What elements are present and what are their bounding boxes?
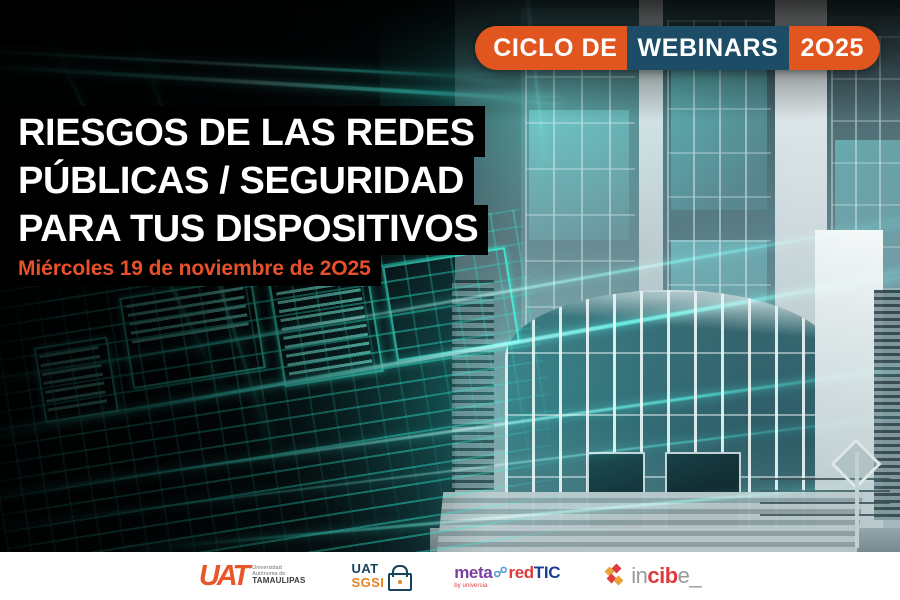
diamond-shape	[614, 576, 624, 586]
metaredtic-wordmark: meta ☍ red TIC by universia	[454, 564, 560, 589]
event-date: Miércoles 19 de noviembre de 2O25	[8, 255, 381, 286]
sponsor-logo-bar: UAT Universidad Autónoma de TAMAULIPAS U…	[0, 552, 900, 600]
uat-wordmark: UAT	[199, 562, 247, 591]
badge-year-label: 2O25	[798, 26, 864, 70]
incibe-e: e_	[678, 563, 701, 588]
metaredtic-main: meta ☍ red TIC	[454, 564, 560, 581]
logo-uat-sgsi: UAT SGSI	[352, 562, 409, 589]
title-line-3: PARA TUS DISPOSITIVOS	[8, 205, 488, 256]
title-block: RIESGOS DE LAS REDES PÚBLICAS / SEGURIDA…	[8, 106, 488, 286]
metaredtic-red: red	[509, 564, 534, 581]
logo-metaredtic: meta ☍ red TIC by universia	[454, 564, 560, 589]
ciclo-de-webinars-badge: CICLO DE WEBINARS 2O25	[475, 26, 880, 70]
diamond-mark-icon	[606, 566, 624, 586]
padlock-body	[388, 573, 412, 591]
metaredtic-meta: meta	[454, 564, 492, 581]
sgsi-wordmark: UAT SGSI	[352, 562, 385, 589]
incibe-in: in	[631, 563, 647, 588]
sgsi-line-2: SGSI	[352, 576, 385, 590]
badge-ciclo-de-label: CICLO DE	[493, 26, 617, 70]
metaredtic-tagline: by universia	[454, 583, 560, 589]
title-line-2: PÚBLICAS / SEGURIDAD	[8, 157, 474, 205]
background-image	[0, 0, 900, 600]
metaredtic-tic: TIC	[534, 564, 560, 581]
incibe-wordmark: incibe_	[631, 565, 701, 587]
incibe-cib: cib	[647, 563, 677, 588]
link-icon: ☍	[493, 565, 507, 579]
padlock-icon	[388, 565, 408, 587]
title-line-1: RIESGOS DE LAS REDES	[8, 106, 485, 157]
uat-line-3: TAMAULIPAS	[252, 577, 305, 585]
uat-subtitle: Universidad Autónoma de TAMAULIPAS	[252, 566, 305, 585]
webinar-poster: CICLO DE WEBINARS 2O25 RIESGOS DE LAS RE…	[0, 0, 900, 600]
logo-incibe: incibe_	[606, 565, 701, 587]
sgsi-line-1: UAT	[352, 562, 385, 576]
padlock-keyhole	[398, 580, 402, 584]
badge-webinars-label: WEBINARS	[627, 26, 790, 70]
logo-uat-tamaulipas: UAT Universidad Autónoma de TAMAULIPAS	[199, 562, 306, 591]
